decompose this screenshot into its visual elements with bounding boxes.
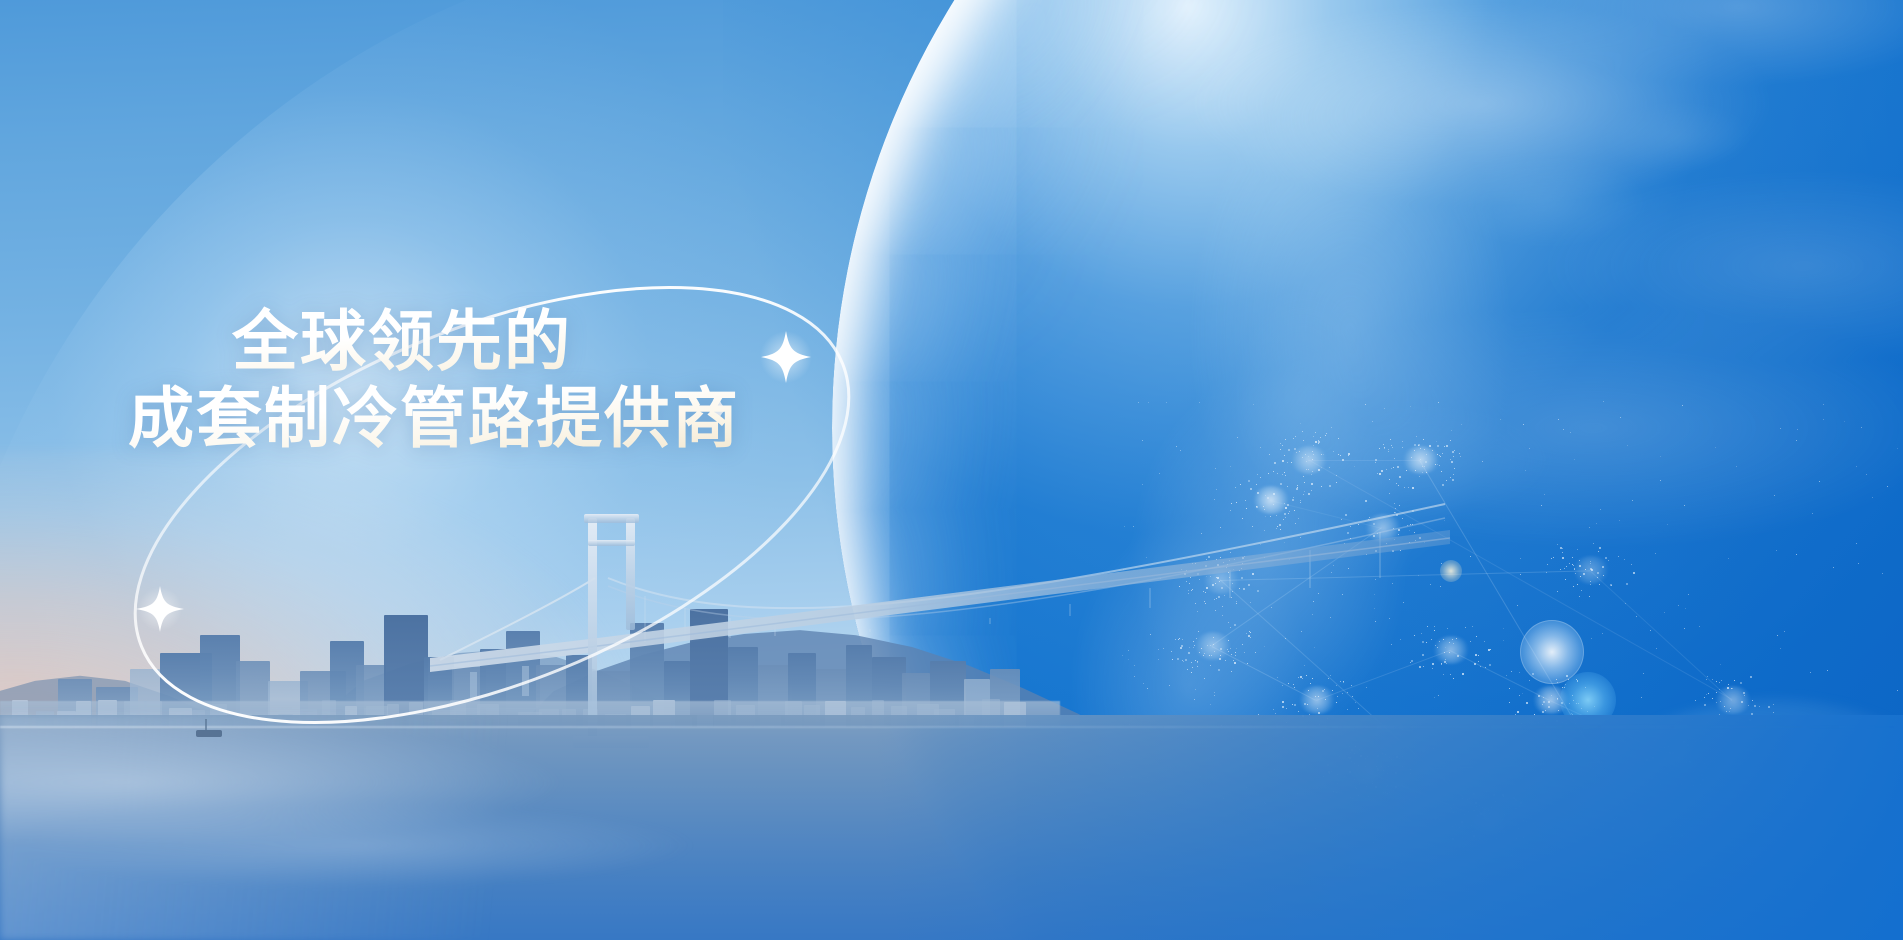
- hero-banner: 全球领先的 成套制冷管路提供商 蓝色地球与海港城市天际线跨海大桥背景: [0, 0, 1903, 940]
- hero-headline: 全球领先的 成套制冷管路提供商: [128, 303, 868, 457]
- water-reflection: [0, 715, 1047, 940]
- headline-line-2: 成套制冷管路提供商: [128, 380, 868, 457]
- headline-line-1: 全球领先的: [232, 303, 868, 380]
- boat-icon: [196, 730, 222, 737]
- shoreline: [0, 726, 1903, 728]
